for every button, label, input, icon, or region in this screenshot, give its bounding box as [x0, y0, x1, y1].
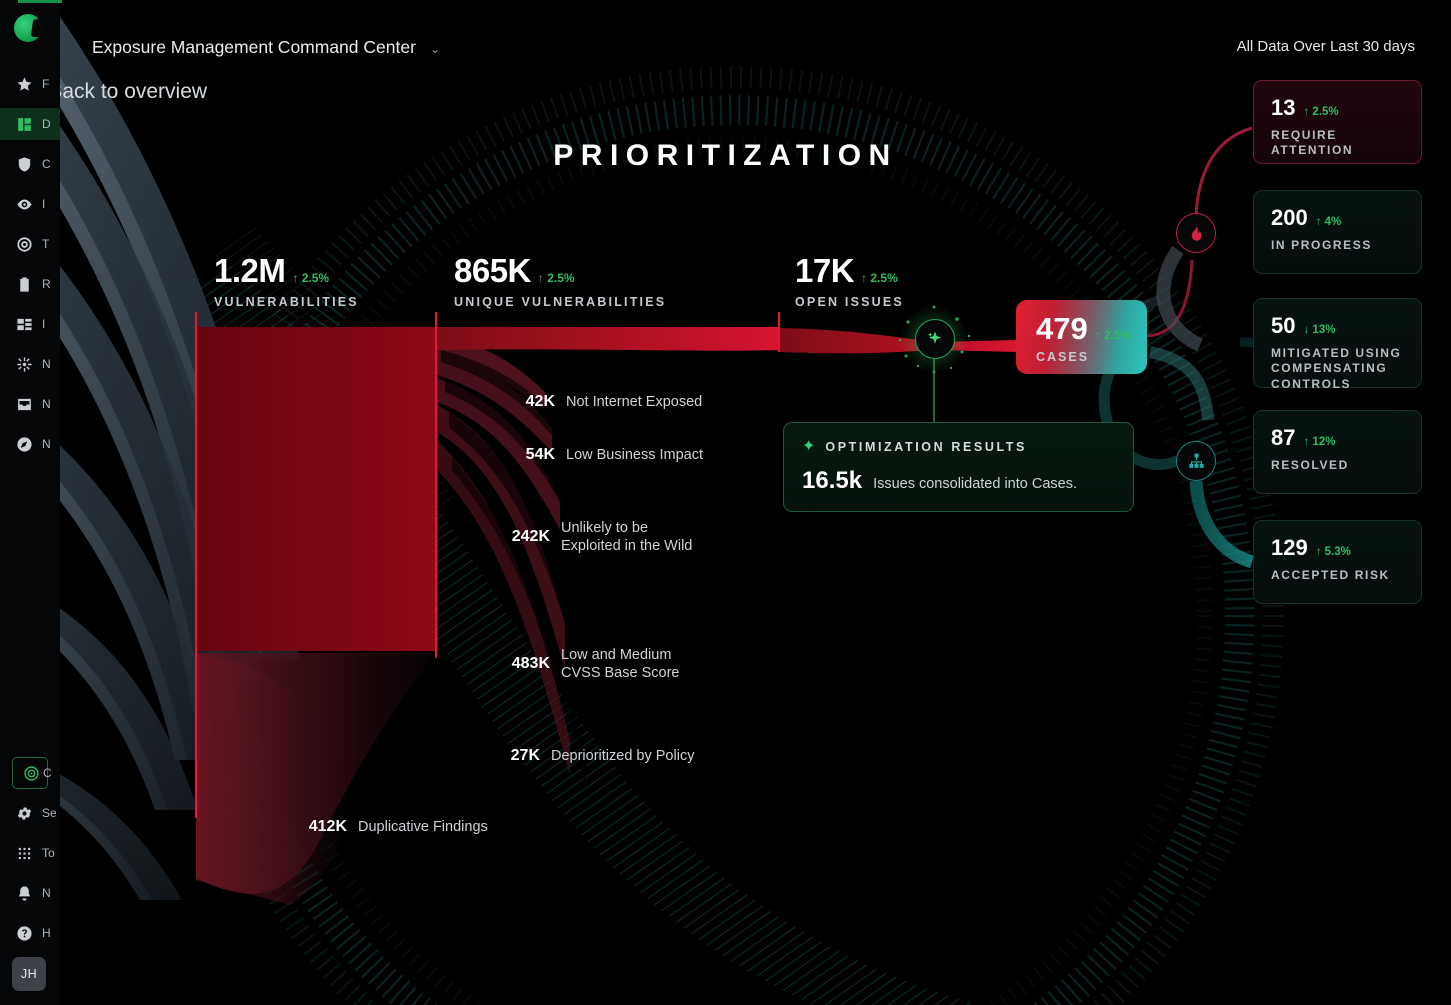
date-range-label[interactable]: All Data Over Last 30 days	[1237, 38, 1415, 55]
sidebar-item-dashboards[interactable]: D	[0, 108, 60, 140]
status-label: MITIGATED USING COMPENSATING CONTROLS	[1271, 346, 1421, 392]
flame-icon	[1187, 224, 1206, 243]
status-label: RESOLVED	[1271, 458, 1421, 473]
sidebar-label: N	[42, 886, 56, 900]
grid-icon	[14, 843, 34, 863]
status-label: ACCEPTED RISK	[1271, 568, 1421, 583]
status-card-mitigated[interactable]: 50 ↓ 13% MITIGATED USING COMPENSATING CO…	[1253, 298, 1422, 388]
status-delta: ↑ 2.5%	[1303, 106, 1338, 118]
orca-logo-icon	[14, 14, 42, 42]
status-card-in-progress[interactable]: 200 ↑ 4% IN PROGRESS	[1253, 190, 1422, 274]
sidebar-item-network[interactable]: N	[0, 348, 60, 380]
back-to-overview-label: Back to overview	[48, 80, 207, 104]
sidebar-label: To	[42, 846, 56, 860]
sidebar-label: D	[42, 117, 56, 131]
leaf-value: 42K	[440, 393, 555, 411]
compass-icon	[14, 434, 34, 454]
status-value: 87	[1271, 425, 1295, 451]
star-icon	[14, 74, 34, 94]
sitemap-icon	[1187, 452, 1206, 471]
sidebar-item-threats[interactable]: T	[0, 228, 60, 260]
leaf-label: Not Internet Exposed	[566, 393, 702, 411]
sidebar-label: Se	[42, 806, 56, 820]
sidebar-item-cves[interactable]: C	[0, 148, 60, 180]
stage-value: 17K	[795, 252, 854, 290]
sidebar-item-navigator[interactable]: N	[0, 428, 60, 460]
leaf-duplicative-findings: 412K Duplicative Findings	[232, 818, 572, 836]
page-title-header[interactable]: Exposure Management Command Center	[92, 37, 416, 58]
page-title: PRIORITIZATION	[0, 139, 1451, 173]
dashboard-icon	[14, 114, 34, 134]
clipboard-icon	[14, 274, 34, 294]
layout-icon	[14, 314, 34, 334]
eye-icon	[14, 194, 34, 214]
leaf-value: 412K	[232, 818, 347, 836]
status-card-require-attention[interactable]: 13 ↑ 2.5% REQUIRE ATTENTION	[1253, 80, 1422, 164]
app-root: F D C I T R I	[0, 0, 1451, 1005]
stage-value: 1.2M	[214, 252, 285, 290]
leaf-value: 242K	[435, 528, 550, 546]
inbox-icon	[14, 394, 34, 414]
sidebar-label: N	[42, 437, 56, 451]
sidebar-label: I	[42, 197, 56, 211]
target-icon	[14, 234, 34, 254]
status-delta: ↑ 4%	[1316, 216, 1342, 228]
chevron-down-icon[interactable]: ⌄	[430, 42, 440, 56]
status-value: 200	[1271, 205, 1308, 231]
stage-unique-vulnerabilities: 865K ↑ 2.5% UNIQUE VULNERABILITIES	[454, 252, 666, 309]
optimization-value: 16.5k	[802, 467, 862, 495]
optimization-results-panel: ✦ OPTIMIZATION RESULTS 16.5k Issues cons…	[783, 422, 1134, 512]
app-logo[interactable]	[14, 14, 46, 46]
cases-value: 479	[1036, 311, 1088, 347]
status-card-resolved[interactable]: 87 ↑ 12% RESOLVED	[1253, 410, 1422, 494]
sidebar-label: C	[43, 766, 57, 780]
stage-delta: ↑ 2.5%	[292, 271, 329, 285]
leaf-value: 483K	[435, 655, 550, 673]
status-value: 129	[1271, 535, 1308, 561]
status-card-accepted-risk[interactable]: 129 ↑ 5.3% ACCEPTED RISK	[1253, 520, 1422, 604]
status-label: REQUIRE ATTENTION	[1271, 128, 1421, 159]
sidebar-bottom-nav: C Se To N H JH	[0, 757, 60, 991]
node-fire[interactable]	[1176, 213, 1216, 253]
leaf-not-internet-exposed: 42K Not Internet Exposed	[440, 393, 760, 411]
sidebar-item-reports[interactable]: R	[0, 268, 60, 300]
sidebar-nav: F D C I T R I	[0, 68, 60, 460]
sidebar-item-copilot[interactable]: C	[12, 757, 48, 789]
stage-open-issues: 17K ↑ 2.5% OPEN ISSUES	[795, 252, 904, 309]
sidebar-label: R	[42, 277, 56, 291]
sidebar-item-inbox[interactable]: N	[0, 388, 60, 420]
optimization-text: Issues consolidated into Cases.	[873, 476, 1077, 492]
sidebar-label: I	[42, 317, 56, 331]
leaf-value: 27K	[425, 747, 540, 765]
leaf-low-business-impact: 54K Low Business Impact	[440, 446, 760, 464]
gear-icon	[14, 803, 34, 823]
optimization-heading: OPTIMIZATION RESULTS	[825, 440, 1027, 454]
shield-alert-icon	[14, 154, 34, 174]
status-delta: ↑ 12%	[1303, 436, 1335, 448]
status-delta: ↑ 5.3%	[1316, 546, 1351, 558]
leaf-label: Low and Medium CVSS Base Score	[561, 646, 679, 682]
sidebar-top-accent	[18, 0, 62, 3]
sparkle-icon: ✦	[802, 439, 815, 455]
status-value: 13	[1271, 95, 1295, 121]
avatar-initials: JH	[21, 967, 37, 981]
status-label: IN PROGRESS	[1271, 238, 1421, 253]
cases-card[interactable]: 479 ↑ 2.5% CASES	[1018, 302, 1145, 372]
leaf-deprioritized-by-policy: 27K Deprioritized by Policy	[425, 747, 765, 765]
stage-delta: ↑ 2.5%	[861, 271, 898, 285]
sidebar-item-settings[interactable]: Se	[0, 797, 34, 829]
teal-hatch-band	[150, 265, 980, 1005]
node-sitemap[interactable]	[1176, 441, 1216, 481]
cases-label: CASES	[1036, 350, 1145, 364]
node-sparkle[interactable]	[915, 319, 955, 359]
leaf-label: Low Business Impact	[566, 446, 703, 464]
leaf-low-medium-cvss: 483K Low and Medium CVSS Base Score	[435, 646, 775, 682]
stage-vulnerabilities: 1.2M ↑ 2.5% VULNERABILITIES	[214, 252, 359, 309]
sidebar-label: T	[42, 237, 56, 251]
stage-label: VULNERABILITIES	[214, 295, 359, 309]
leaf-value: 54K	[440, 446, 555, 464]
leaf-label: Deprioritized by Policy	[551, 747, 694, 765]
sparkle-icon	[926, 330, 944, 348]
cases-delta: ↑ 2.5%	[1095, 328, 1132, 342]
sidebar-item-inventory[interactable]: I	[0, 188, 60, 220]
stage-delta: ↑ 2.5%	[538, 271, 575, 285]
nodes-icon	[14, 354, 34, 374]
sidebar-label: H	[42, 926, 56, 940]
sidebar-label: C	[42, 157, 56, 171]
stage-label: OPEN ISSUES	[795, 295, 904, 309]
avatar[interactable]: JH	[12, 957, 46, 991]
sidebar-item-tools[interactable]: To	[0, 837, 34, 869]
sidebar-item-integrations[interactable]: I	[0, 308, 60, 340]
status-value: 50	[1271, 313, 1295, 339]
status-delta: ↓ 13%	[1303, 324, 1335, 336]
top-bar: Exposure Management Command Center ⌄ All…	[60, 0, 1451, 70]
stage-label: UNIQUE VULNERABILITIES	[454, 295, 666, 309]
leaf-label: Duplicative Findings	[358, 818, 488, 836]
help-icon	[14, 923, 34, 943]
sidebar-item-help[interactable]: H	[0, 917, 34, 949]
radar-icon	[21, 763, 41, 783]
sidebar-label: N	[42, 357, 56, 371]
stage-value: 865K	[454, 252, 531, 290]
sidebar-item-favorites[interactable]: F	[0, 68, 60, 100]
leaf-label: Unlikely to be Exploited in the Wild	[561, 519, 692, 555]
leaf-unlikely-exploited: 242K Unlikely to be Exploited in the Wil…	[435, 519, 775, 555]
sidebar: F D C I T R I	[0, 0, 60, 1005]
bell-icon	[14, 883, 34, 903]
sidebar-item-notifications[interactable]: N	[0, 877, 34, 909]
sidebar-label: F	[42, 77, 56, 91]
sidebar-label: N	[42, 397, 56, 411]
